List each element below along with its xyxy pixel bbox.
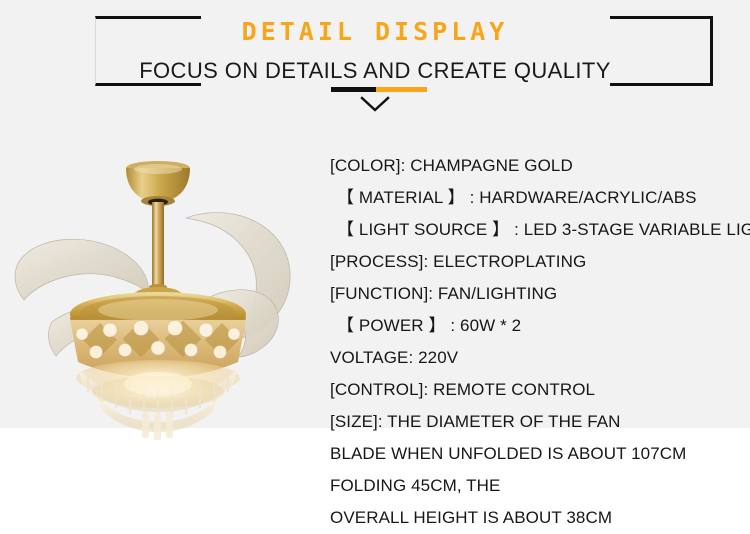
spec-line: VOLTAGE: 220V <box>330 342 750 374</box>
header-banner: DETAIL DISPLAY FOCUS ON DETAILS AND CREA… <box>0 0 750 120</box>
spec-line: [PROCESS]: ELECTROPLATING <box>330 246 750 278</box>
crystal-skirt <box>76 360 240 440</box>
product-detail-page: DETAIL DISPLAY FOCUS ON DETAILS AND CREA… <box>0 0 750 493</box>
product-image-ceiling-fan <box>10 140 310 440</box>
spec-line: [SIZE]: THE DIAMETER OF THE FAN <box>330 406 750 438</box>
chevron-down-icon <box>359 95 391 113</box>
spec-line: [FUNCTION]: FAN/LIGHTING <box>330 278 750 310</box>
spec-line: FOLDING 45CM, THE <box>330 470 750 502</box>
spec-line: OVERALL HEIGHT IS ABOUT 38CM <box>330 502 750 534</box>
downrod <box>149 202 167 290</box>
spec-line: 【 POWER 】 : 60W * 2 <box>330 310 750 342</box>
page-subtitle: FOCUS ON DETAILS AND CREATE QUALITY <box>0 58 750 84</box>
page-title: DETAIL DISPLAY <box>0 18 750 46</box>
ceiling-canopy <box>126 161 190 206</box>
divider-rule-dark <box>331 87 376 92</box>
spec-line: 【 MATERIAL 】 : HARDWARE/ACRYLIC/ABS <box>330 182 750 214</box>
spec-line: [CONTROL]: REMOTE CONTROL <box>330 374 750 406</box>
spec-line: 【 LIGHT SOURCE 】 : LED 3-STAGE VARIABLE … <box>330 214 750 246</box>
spec-line: [COLOR]: CHAMPAGNE GOLD <box>330 150 750 182</box>
product-specifications: [COLOR]: CHAMPAGNE GOLD 【 MATERIAL 】 : H… <box>330 150 750 534</box>
spec-line: BLADE WHEN UNFOLDED IS ABOUT 107CM <box>330 438 750 470</box>
divider-rule-gold <box>376 87 427 92</box>
